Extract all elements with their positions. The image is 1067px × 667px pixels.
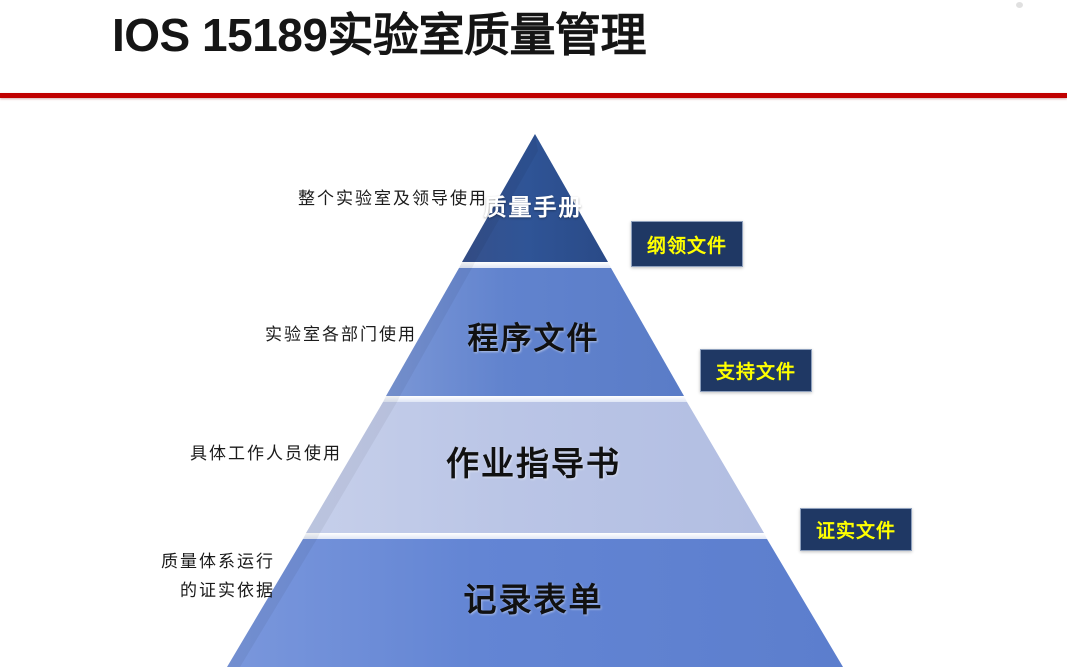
page-title: IOS 15189实验室质量管理 (112, 7, 646, 65)
category-box-evidence-document: 证实文件 (800, 508, 912, 551)
pyramid-tier-1-label: 质量手册 (0, 188, 1067, 222)
usage-note-tier-4-line1: 质量体系运行 (161, 552, 275, 571)
usage-note-tier-3: 具体工作人员使用 (190, 441, 342, 467)
title-divider-rule (0, 93, 1067, 98)
pyramid-tier-3-label: 作业指导书 (0, 437, 1067, 485)
usage-note-tier-4-line2: 的证实依据 (115, 577, 275, 606)
slide-canvas: IOS 15189实验室质量管理 (0, 0, 1067, 667)
usage-note-tier-1: 整个实验室及领导使用 (298, 186, 488, 212)
slide-header: IOS 15189实验室质量管理 (0, 0, 1067, 94)
usage-note-tier-4: 质量体系运行 的证实依据 (115, 548, 275, 606)
category-box-support-document: 支持文件 (700, 349, 812, 392)
usage-note-tier-2: 实验室各部门使用 (265, 322, 417, 348)
header-decoration-dot (1016, 2, 1023, 8)
category-box-outline-document: 纲领文件 (631, 221, 743, 267)
pyramid-tier-2-label: 程序文件 (0, 313, 1067, 358)
